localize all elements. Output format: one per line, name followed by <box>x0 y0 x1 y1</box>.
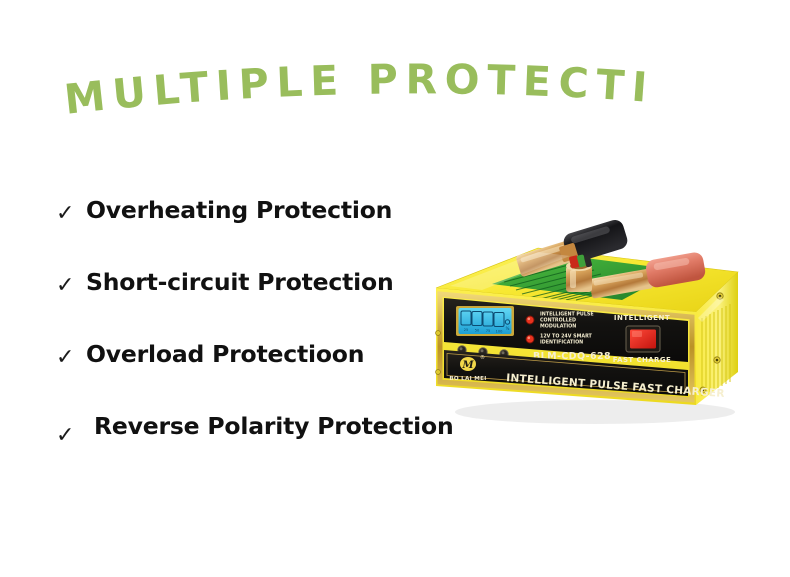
list-item: ✓ Overload Protectioon <box>56 340 476 412</box>
clamp-wire-stubs <box>569 254 593 269</box>
brand-registered-icon: ® <box>480 354 485 361</box>
svg-text:CONTROLLED: CONTROLLED <box>540 318 576 324</box>
list-item-label: Overheating Protection <box>86 196 392 224</box>
svg-text:25: 25 <box>464 328 469 332</box>
list-item: ✓ Overheating Protection <box>56 196 476 268</box>
page-title-textpath: MULTIPLE PROTECTION <box>60 58 656 124</box>
brand-mark: M <box>461 360 474 371</box>
svg-text:100: 100 <box>496 330 504 334</box>
list-item-label: Short-circuit Protection <box>86 268 394 296</box>
charger-lcd-display: 25 50 75 100 % <box>456 306 514 336</box>
svg-text:50: 50 <box>475 329 480 333</box>
check-icon: ✓ <box>56 203 86 225</box>
page-title: MULTIPLE PROTECTION <box>60 58 660 128</box>
check-icon: ✓ <box>56 425 86 447</box>
feature-list: ✓ Overheating Protection ✓ Short-circuit… <box>56 196 476 484</box>
check-icon: ✓ <box>56 347 86 369</box>
page-title-svg: MULTIPLE PROTECTION <box>60 58 660 128</box>
svg-text:12V TO 24V SMART: 12V TO 24V SMART <box>540 334 593 340</box>
svg-text:MODULATION: MODULATION <box>540 324 576 330</box>
brand-name: BO LAI MEI <box>449 376 486 382</box>
check-icon: ✓ <box>56 275 86 297</box>
page-title-text: MULTIPLE PROTECTION <box>60 58 656 124</box>
svg-text:INTELLIGENT PULSE: INTELLIGENT PULSE <box>540 312 594 318</box>
list-item: ✓ Short-circuit Protection <box>56 268 476 340</box>
svg-text:IDENTIFICATION: IDENTIFICATION <box>540 340 583 346</box>
list-item-label: Reverse Polarity Protection <box>86 412 453 440</box>
charger-lcd-unit: % <box>506 326 510 331</box>
charger-button-caption: FAST CHARGE <box>613 356 671 364</box>
charger-button-title: INTELLIGENT <box>614 314 670 322</box>
promo-banner: MULTIPLE PROTECTION ✓ Overheating Protec… <box>0 0 790 577</box>
charger-illustration: 25 50 75 100 % MODULATION 24V 12V <box>420 200 780 445</box>
list-item-label: Overload Protectioon <box>86 340 364 368</box>
svg-text:75: 75 <box>486 329 491 333</box>
brand-logo: M <box>460 357 476 371</box>
fast-charge-button[interactable] <box>626 326 660 352</box>
product-image: 25 50 75 100 % MODULATION 24V 12V <box>420 200 780 445</box>
list-item: ✓ Reverse Polarity Protection <box>56 412 476 484</box>
